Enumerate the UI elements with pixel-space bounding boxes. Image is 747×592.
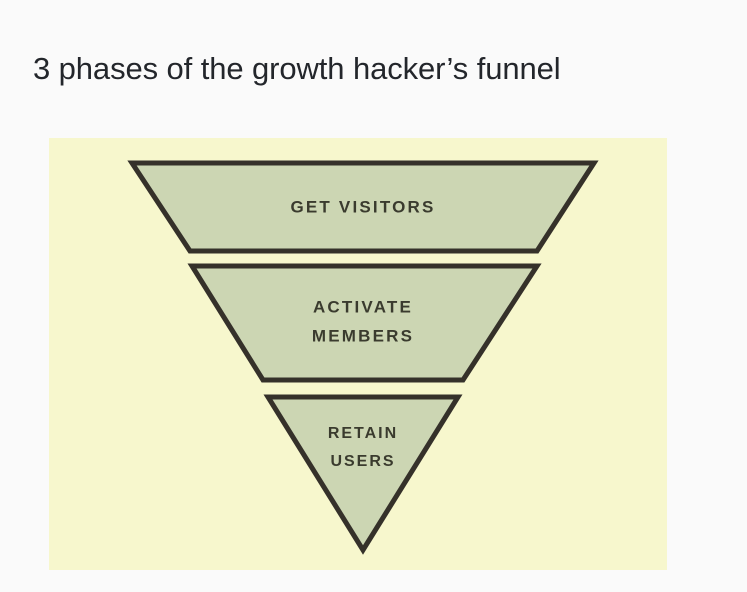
funnel-stage-3-label-line1: RETAIN <box>328 425 398 442</box>
funnel-stage-activate-members: ACTIVATE MEMBERS <box>192 266 537 380</box>
funnel-stage-1-label: GET VISITORS <box>290 197 435 216</box>
funnel-stage-3-shape <box>268 397 458 550</box>
funnel-figure-panel: GET VISITORS ACTIVATE MEMBERS RETAIN USE… <box>49 138 667 570</box>
funnel-stage-2-label-line2: MEMBERS <box>312 326 414 345</box>
funnel-stage-2-label-line1: ACTIVATE <box>313 297 413 316</box>
funnel-stage-3-label-line2: USERS <box>330 453 395 470</box>
funnel-stage-get-visitors: GET VISITORS <box>132 163 594 251</box>
page-title: 3 phases of the growth hacker’s funnel <box>0 21 747 117</box>
funnel-diagram: GET VISITORS ACTIVATE MEMBERS RETAIN USE… <box>49 138 667 570</box>
funnel-stage-retain-users: RETAIN USERS <box>268 397 458 550</box>
funnel-stage-2-shape <box>192 266 537 380</box>
